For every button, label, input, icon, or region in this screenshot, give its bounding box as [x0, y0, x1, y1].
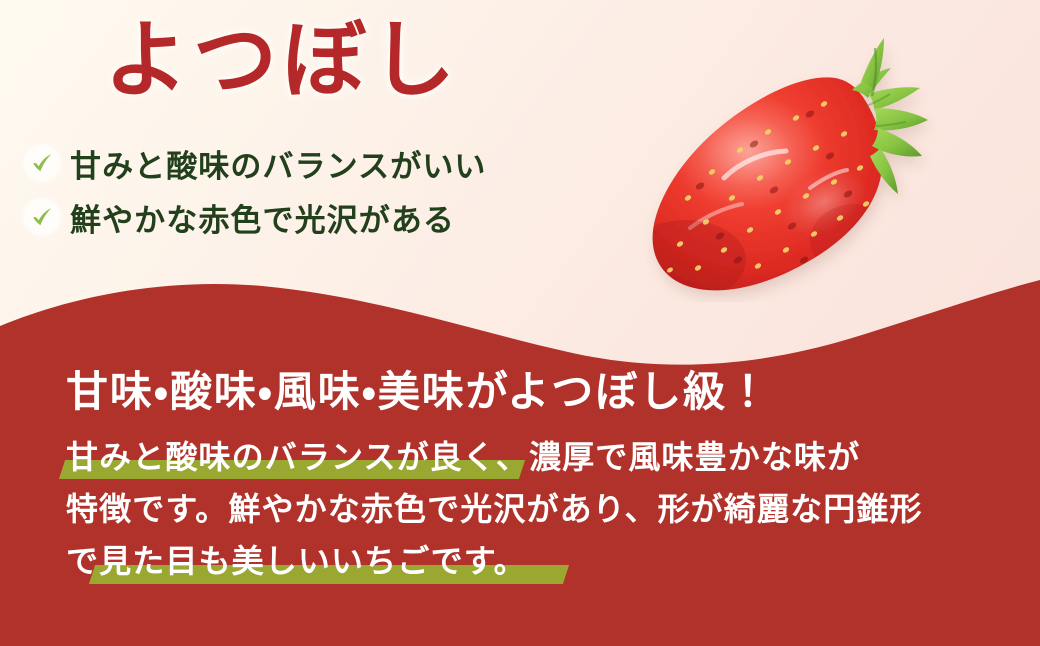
check-icon	[24, 145, 60, 181]
body-line: 特徴です。鮮やかな赤色で光沢があり、形が綺麗な円錐形	[66, 486, 996, 538]
red-section-content: 甘味・酸味・風味・美味がよつぼし級！ 甘みと酸味のバランスが良く、濃厚で風味豊か…	[0, 352, 1040, 646]
check-icon	[24, 199, 60, 235]
list-item-label: 甘みと酸味のバランスがいい	[70, 141, 486, 186]
section-body-copy: 甘みと酸味のバランスが良く、濃厚で風味豊かな味が 特徴です。鮮やかな赤色で光沢が…	[66, 434, 996, 590]
yotsuboshi-strawberry-banner: よつぼし 甘みと酸味のバランスがいい 鮮やかな赤色で光沢がある	[0, 0, 1040, 646]
body-line: 甘みと酸味のバランスが良く、濃厚で風味豊かな味が	[66, 434, 996, 486]
body-line-text: 特徴です。鮮やかな赤色で光沢があり、形が綺麗な円錐形	[66, 486, 923, 532]
body-line-text: 甘みと酸味のバランスが良く、濃厚で風味豊かな味が	[66, 434, 860, 480]
page-title: よつぼし	[104, 12, 460, 111]
section-headline: 甘味・酸味・風味・美味がよつぼし級！	[66, 358, 771, 419]
list-item: 鮮やかな赤色で光沢がある	[24, 190, 664, 244]
strawberry-photo	[628, 2, 948, 302]
list-item: 甘みと酸味のバランスがいい	[24, 136, 664, 190]
body-line: で見た目も美しいいちごです。	[66, 538, 996, 590]
feature-list: 甘みと酸味のバランスがいい 鮮やかな赤色で光沢がある	[24, 136, 664, 244]
list-item-label: 鮮やかな赤色で光沢がある	[70, 195, 455, 240]
body-line-text: で見た目も美しいいちごです。	[66, 538, 527, 584]
